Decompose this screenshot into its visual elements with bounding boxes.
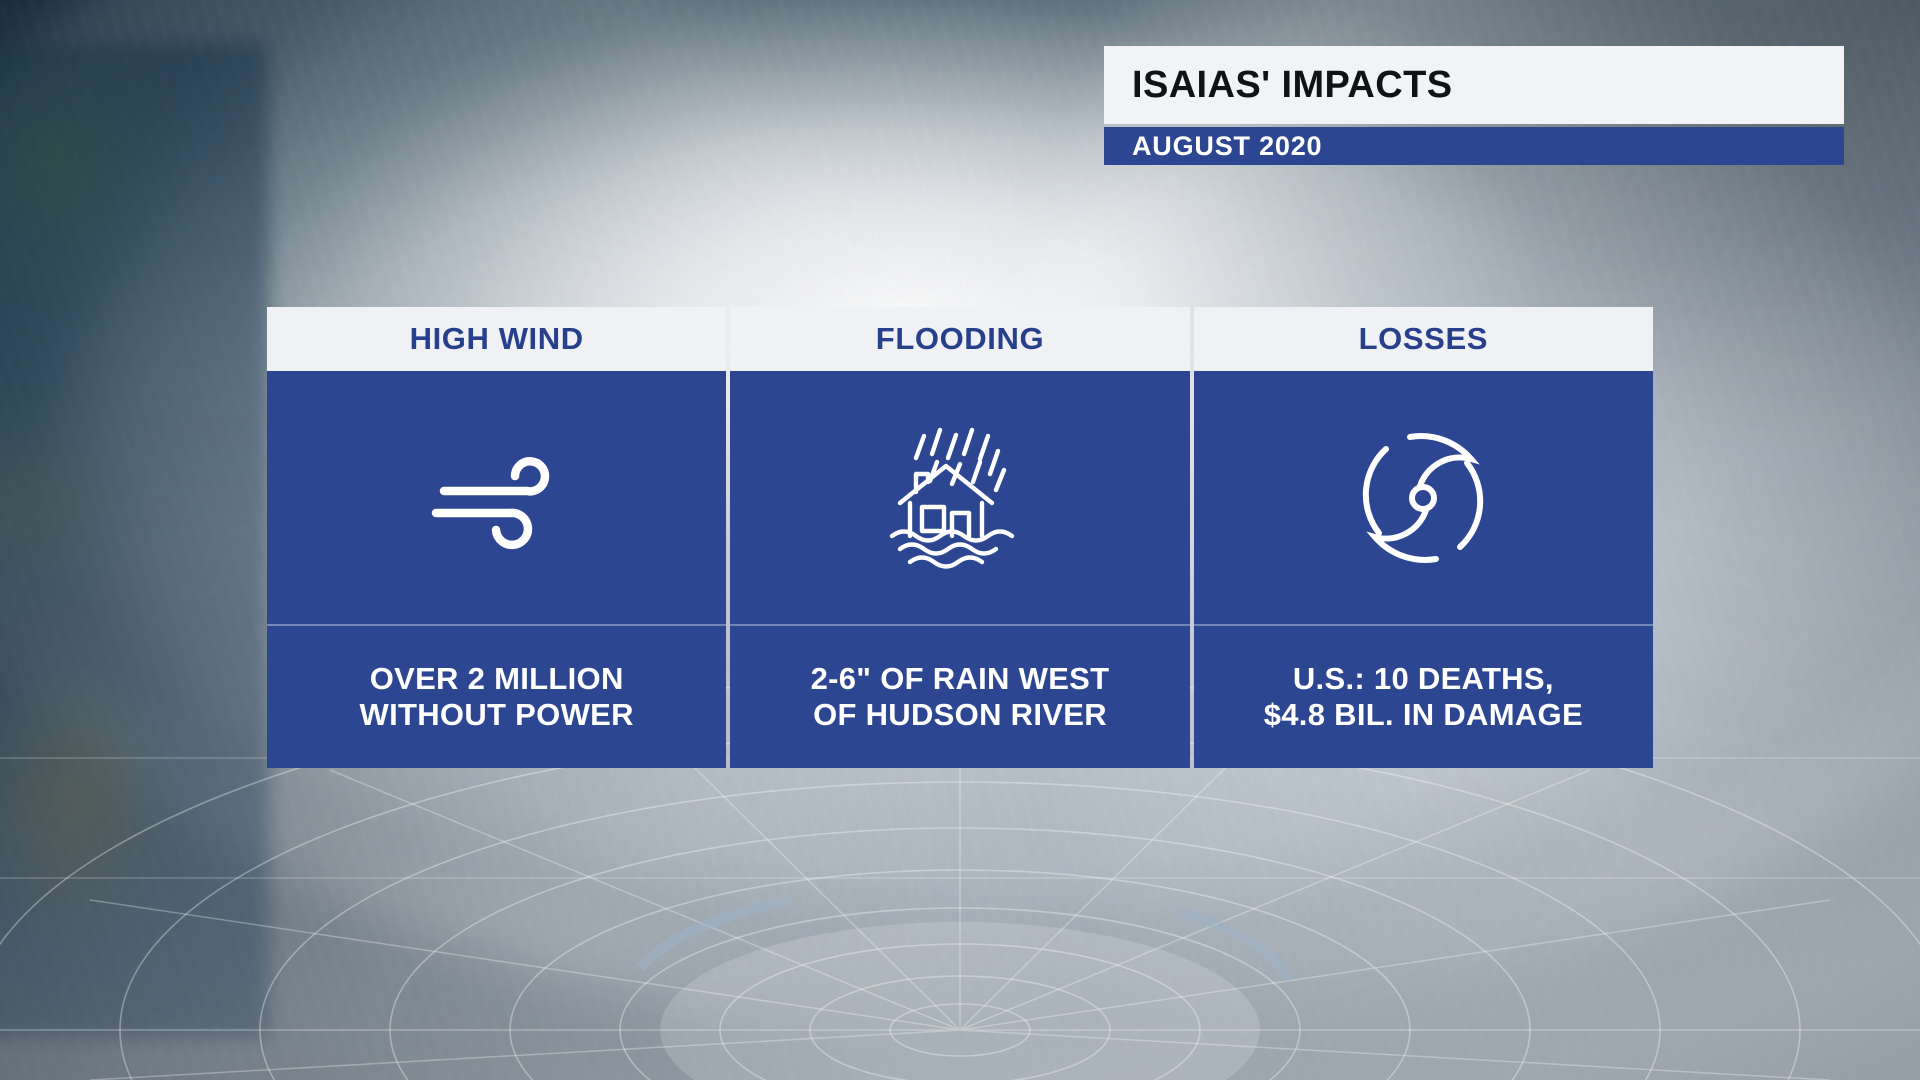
impact-column-flooding: FLOODING	[730, 307, 1189, 768]
title-main-bar: ISAIAS' IMPACTS	[1104, 46, 1844, 124]
impact-column-high-wind: HIGH WIND OVER 2 MILLION WITHOUT POWER	[267, 307, 726, 768]
wind-icon	[422, 438, 572, 558]
hurricane-icon	[1348, 423, 1498, 573]
title-sub-bar: AUGUST 2020	[1104, 127, 1844, 165]
page-subtitle: AUGUST 2020	[1132, 131, 1322, 162]
column-header-label: LOSSES	[1359, 321, 1488, 357]
column-icon-cell	[1194, 371, 1653, 626]
column-header-cell: LOSSES	[1194, 307, 1653, 371]
impact-column-losses: LOSSES	[1194, 307, 1653, 768]
column-text-cell: U.S.: 10 DEATHS, $4.8 BIL. IN DAMAGE	[1194, 626, 1653, 768]
impacts-table: HIGH WIND OVER 2 MILLION WITHOUT POWER F…	[267, 307, 1653, 768]
title-block: ISAIAS' IMPACTS AUGUST 2020	[1104, 46, 1844, 165]
column-text-value: 2-6" OF RAIN WEST OF HUDSON RIVER	[811, 661, 1110, 734]
column-header-label: FLOODING	[876, 321, 1044, 357]
weather-graphic-stage: ISAIAS' IMPACTS AUGUST 2020 HIGH WIND OV…	[0, 0, 1920, 1080]
column-icon-cell	[730, 371, 1189, 626]
column-text-value: U.S.: 10 DEATHS, $4.8 BIL. IN DAMAGE	[1264, 661, 1583, 734]
column-icon-cell	[267, 371, 726, 626]
column-header-cell: HIGH WIND	[267, 307, 726, 371]
column-text-cell: OVER 2 MILLION WITHOUT POWER	[267, 626, 726, 768]
column-text-value: OVER 2 MILLION WITHOUT POWER	[360, 661, 634, 734]
column-text-cell: 2-6" OF RAIN WEST OF HUDSON RIVER	[730, 626, 1189, 768]
column-header-label: HIGH WIND	[410, 321, 584, 357]
flooded-house-icon	[880, 418, 1040, 578]
column-header-cell: FLOODING	[730, 307, 1189, 371]
page-title: ISAIAS' IMPACTS	[1132, 64, 1452, 107]
